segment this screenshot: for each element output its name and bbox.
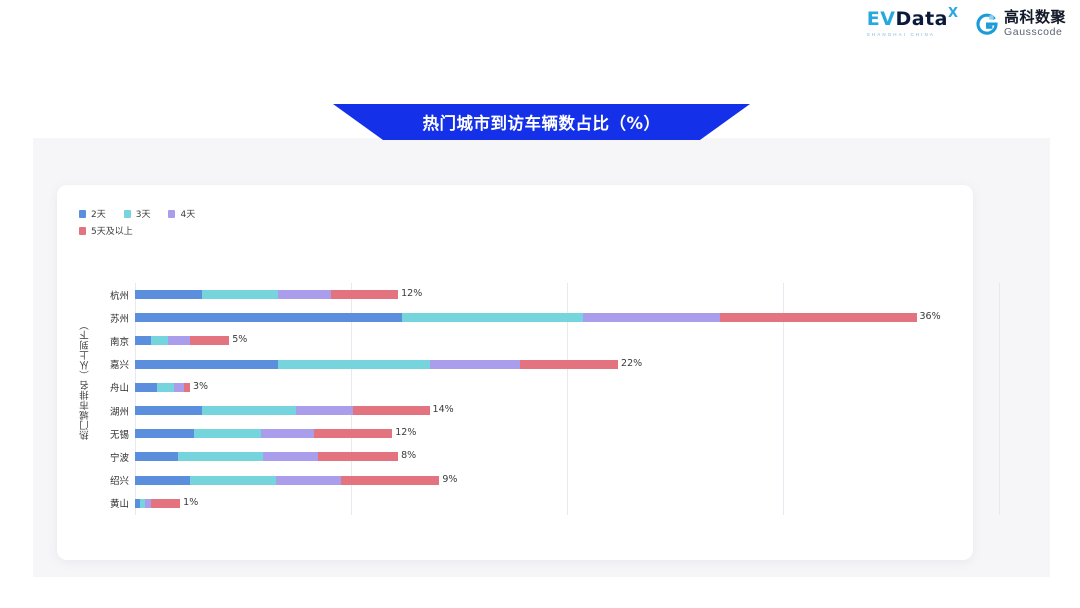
bar-segment-3天 [402,313,583,322]
gausscode-mark-icon [976,13,998,35]
bar-value-label: 9% [442,474,457,485]
stacked-bar[interactable] [135,406,430,415]
bar-segment-4天 [263,452,318,461]
bar-segment-2天 [135,406,202,415]
category-label-无锡: 无锡 [57,427,129,441]
bar-segment-4天 [296,406,353,415]
bar-segment-3天 [194,429,261,438]
chart-row: 舟山3% [57,376,973,399]
chart-row: 杭州12% [57,283,973,306]
bar-value-label: 5% [232,334,247,345]
category-label-湖州: 湖州 [57,404,129,418]
bar-segment-5天及以上 [151,499,180,508]
bar-value-label: 12% [395,427,416,438]
bar-segment-4天 [168,336,190,345]
header-logos: EVData X SHANGHAI CHINA 高科数聚 Gausscode [867,10,1066,38]
bar-segment-2天 [135,429,194,438]
category-label-绍兴: 绍兴 [57,473,129,487]
bar-segment-2天 [135,360,278,369]
bar-segment-5天及以上 [314,429,393,438]
bar-segment-3天 [278,360,429,369]
bar-segment-4天 [583,313,720,322]
evdata-logo-subtitle: SHANGHAI CHINA [867,32,935,37]
stacked-bar[interactable] [135,476,439,485]
bar-segment-4天 [174,383,184,392]
category-label-南京: 南京 [57,334,129,348]
bar-segment-3天 [190,476,276,485]
bar-segment-3天 [202,290,279,299]
bar-segment-2天 [135,290,202,299]
bar-segment-4天 [276,476,341,485]
bar-segment-5天及以上 [520,360,618,369]
chart-row: 苏州36% [57,306,973,329]
bar-segment-4天 [278,290,331,299]
evdata-logo-x-icon: X [948,6,958,21]
bar-segment-5天及以上 [341,476,439,485]
bar-segment-5天及以上 [190,336,229,345]
bar-segment-4天 [430,360,520,369]
bar-segment-5天及以上 [184,383,190,392]
stacked-bar[interactable] [135,383,190,392]
chart-row: 湖州14% [57,399,973,422]
category-label-宁波: 宁波 [57,450,129,464]
category-label-嘉兴: 嘉兴 [57,357,129,371]
category-label-黄山: 黄山 [57,496,129,510]
stacked-bar[interactable] [135,452,398,461]
page-title: 热门城市到访车辆数占比（%） [333,104,750,140]
category-label-杭州: 杭州 [57,288,129,302]
bar-segment-3天 [202,406,296,415]
bar-value-label: 12% [401,288,422,299]
bar-segment-3天 [178,452,262,461]
bar-segment-2天 [135,476,190,485]
chart-row: 宁波8% [57,445,973,468]
chart-row: 黄山1% [57,492,973,515]
chart-row: 绍兴9% [57,469,973,492]
bar-value-label: 3% [193,381,208,392]
stacked-bar[interactable] [135,313,917,322]
bar-segment-4天 [261,429,314,438]
chart-row: 嘉兴22% [57,353,973,376]
bar-segment-2天 [135,452,178,461]
bar-segment-5天及以上 [331,290,398,299]
bar-segment-5天及以上 [720,313,916,322]
stacked-bar[interactable] [135,360,618,369]
bar-value-label: 8% [401,450,416,461]
bar-value-label: 36% [920,311,941,322]
category-label-舟山: 舟山 [57,380,129,394]
stacked-bar[interactable] [135,429,392,438]
stacked-bar[interactable] [135,290,398,299]
category-label-苏州: 苏州 [57,311,129,325]
stacked-bar[interactable] [135,499,180,508]
bar-segment-5天及以上 [353,406,430,415]
chart-row: 无锡12% [57,422,973,445]
chart-row: 南京5% [57,329,973,352]
gridline-4 [999,283,1000,515]
bar-value-label: 14% [433,404,454,415]
bar-value-label: 1% [183,497,198,508]
evdata-logo: EVData X SHANGHAI CHINA [867,10,958,37]
bar-segment-5天及以上 [318,452,399,461]
evdata-logo-suffix: Data [895,8,948,30]
evdata-logo-wordmark: EVData [867,10,948,29]
bar-segment-3天 [157,383,175,392]
stacked-bar[interactable] [135,336,229,345]
bar-segment-2天 [135,336,151,345]
bar-value-label: 22% [621,358,642,369]
bar-segment-3天 [151,336,169,345]
gausscode-logo-cn: 高科数聚 [1004,10,1066,25]
chart-plot-area: 热门城市排名（从上到下） 杭州12%苏州36%南京5%嘉兴22%舟山3%湖州14… [57,185,973,560]
bar-segment-2天 [135,383,157,392]
chart-bars: 杭州12%苏州36%南京5%嘉兴22%舟山3%湖州14%无锡12%宁波8%绍兴9… [57,283,973,515]
evdata-logo-prefix: EV [867,8,896,30]
gausscode-logo-en: Gausscode [1004,27,1066,38]
gausscode-logo-text: 高科数聚 Gausscode [1004,10,1066,38]
gausscode-logo: 高科数聚 Gausscode [976,10,1066,38]
bar-segment-2天 [135,313,402,322]
chart-card: 2天3天4天5天及以上 热门城市排名（从上到下） 杭州12%苏州36%南京5%嘉… [57,185,973,560]
